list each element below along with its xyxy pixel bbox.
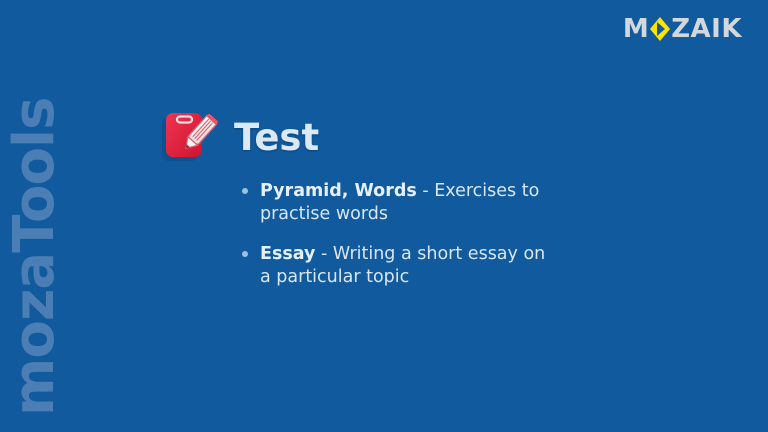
- watermark-label: mozaTools: [7, 98, 63, 432]
- mozaik-logo: M ZAIK: [623, 14, 742, 44]
- feature-list: Pyramid, Words - Exercises to practise w…: [242, 180, 720, 289]
- list-item-separator: -: [417, 181, 434, 201]
- list-item-term: Pyramid, Words: [260, 181, 417, 201]
- page-title: Test: [234, 119, 319, 156]
- mozatools-watermark: mozaTools: [0, 0, 70, 432]
- slide-root: M ZAIK mozaTools: [0, 0, 768, 432]
- list-item: Pyramid, Words - Exercises to practise w…: [242, 180, 560, 227]
- list-item-separator: -: [315, 244, 332, 264]
- content-panel: Test Pyramid, Words - Exercises to pract…: [160, 106, 720, 289]
- clipboard-pencil-icon: [160, 107, 220, 165]
- bullet-dot-icon: [242, 251, 248, 257]
- mozaik-diamond-icon: [649, 16, 671, 42]
- list-item-term: Essay: [260, 244, 315, 264]
- logo-text-prefix: M: [623, 16, 649, 42]
- list-item: Essay - Writing a short essay on a parti…: [242, 243, 560, 290]
- bullet-dot-icon: [242, 188, 248, 194]
- header-row: Test: [160, 106, 720, 166]
- logo-text-suffix: ZAIK: [671, 16, 742, 42]
